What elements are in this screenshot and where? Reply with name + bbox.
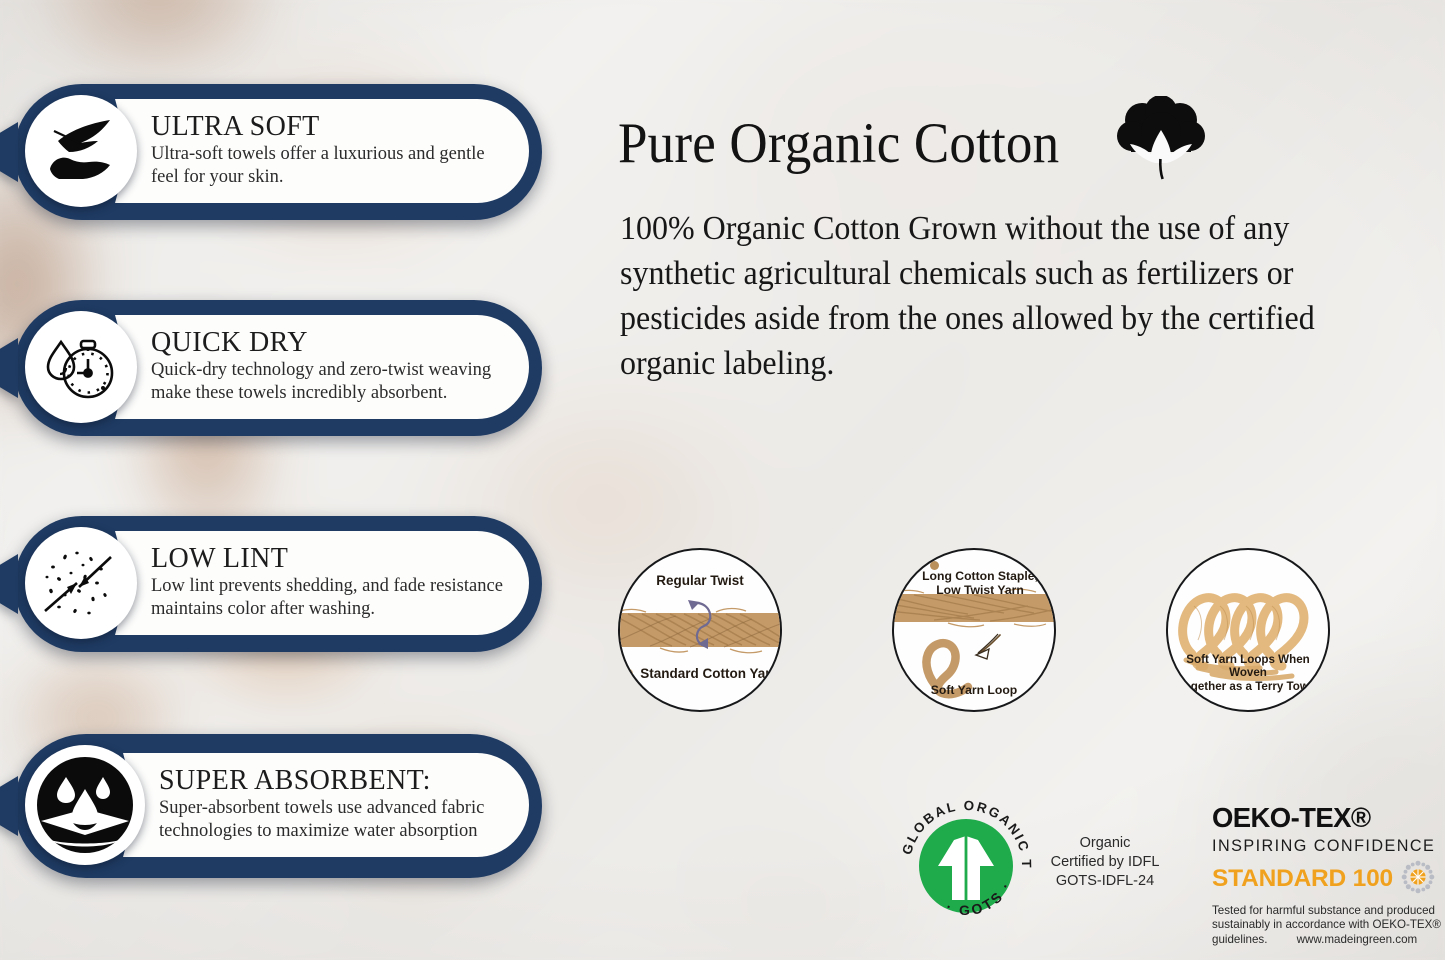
oeko-website: www.madeingreen.com: [1297, 933, 1418, 946]
feature-badge-low-lint[interactable]: LOW LINT Low lint prevents shedding, and…: [14, 516, 542, 652]
badge-card: ULTRA SOFT Ultra-soft towels offer a lux…: [115, 99, 529, 203]
gots-detail-line-1: Organic: [1044, 834, 1166, 853]
yarn-legend-dot: [621, 668, 633, 680]
feature-description: Quick-dry technology and zero-twist weav…: [151, 359, 503, 404]
oeko-tex-sunburst-icon: [1401, 860, 1435, 899]
droplet-stopwatch-icon: [25, 311, 137, 423]
gots-certification-detail: Organic Certified by IDFL GOTS-IDFL-24: [1044, 834, 1166, 891]
yarn-diagram-terry-loops: Soft Yarn Loops When Woven Together as a…: [1166, 548, 1330, 712]
feature-badge-list: ULTRA SOFT Ultra-soft towels offer a lux…: [0, 0, 580, 960]
badge-tail: [0, 122, 18, 182]
lede-paragraph: 100% Organic Cotton Grown without the us…: [620, 206, 1394, 386]
regular-twist-yarn-icon: [620, 550, 780, 710]
yarn-diagram-group: Regular Twist: [604, 548, 1445, 718]
yarn-diagram-low-twist: Long Cotton Staple, Low Twist Yarn Soft …: [892, 548, 1056, 712]
oeko-brand: OEKO-TEX®: [1212, 804, 1444, 832]
right-content-column: Pure Organic Cotton 100% Organic Cotton …: [604, 0, 1445, 960]
feature-badge-quick-dry[interactable]: QUICK DRY Quick-dry technology and zero-…: [14, 300, 542, 436]
badge-shell: SUPER ABSORBENT: Super-absorbent towels …: [14, 734, 542, 878]
yarn-bottom-label: Standard Cotton Yarn: [640, 666, 779, 681]
yarn-bottom-label-line1: Soft Yarn Loops When Woven: [1168, 653, 1328, 680]
hand-feather-icon: [25, 95, 137, 207]
feature-description: Low lint prevents shedding, and fade res…: [151, 575, 503, 620]
gots-seal-icon: GLOBAL ORGANIC TEXTILE STANDARD · GOTS ·: [896, 796, 1036, 936]
yarn-top-label-line1: Long Cotton Staple,: [906, 569, 1054, 583]
feature-title: SUPER ABSORBENT:: [159, 766, 503, 796]
yarn-legend-dot: [930, 561, 939, 570]
oeko-tex-block: OEKO-TEX® INSPIRING CONFIDENCE STANDARD …: [1212, 804, 1444, 948]
badge-tail: [0, 338, 18, 398]
gots-detail-line-2: Certified by IDFL: [1044, 853, 1166, 872]
water-absorption-layers-icon: [25, 745, 145, 865]
yarn-diagram-regular-twist: Regular Twist: [618, 548, 782, 712]
yarn-bottom-label: Soft Yarn Loop: [894, 683, 1054, 697]
badge-shell: LOW LINT Low lint prevents shedding, and…: [14, 516, 542, 652]
feature-title: ULTRA SOFT: [151, 112, 503, 142]
gots-detail-line-3: GOTS-IDFL-24: [1044, 872, 1166, 891]
cotton-boll-icon: [1115, 96, 1207, 187]
lint-particles-arrows-icon: [25, 527, 137, 639]
badge-shell: QUICK DRY Quick-dry technology and zero-…: [14, 300, 542, 436]
yarn-bottom-label-line2: Together as a Terry Towel: [1168, 680, 1328, 693]
feature-description: Ultra-soft towels offer a luxurious and …: [151, 143, 503, 188]
feature-badge-ultra-soft[interactable]: ULTRA SOFT Ultra-soft towels offer a lux…: [14, 84, 542, 220]
yarn-top-label-line2: Low Twist Yarn: [906, 583, 1054, 597]
headline-row: Pure Organic Cotton: [618, 100, 1207, 187]
feature-title: QUICK DRY: [151, 328, 503, 358]
badge-card: QUICK DRY Quick-dry technology and zero-…: [115, 315, 529, 419]
page-title: Pure Organic Cotton: [618, 115, 1059, 172]
badge-tail: [0, 776, 18, 836]
oeko-tagline: INSPIRING CONFIDENCE: [1212, 838, 1444, 854]
feature-badge-super-absorbent[interactable]: SUPER ABSORBENT: Super-absorbent towels …: [14, 734, 542, 878]
feature-description: Super-absorbent towels use advanced fabr…: [159, 797, 503, 842]
feature-title: LOW LINT: [151, 544, 503, 574]
oeko-disclaimer: Tested for harmful substance and produce…: [1212, 904, 1444, 948]
oeko-standard: STANDARD 100: [1212, 867, 1393, 892]
badge-tail: [0, 554, 18, 614]
badge-shell: ULTRA SOFT Ultra-soft towels offer a lux…: [14, 84, 542, 220]
certification-row: GLOBAL ORGANIC TEXTILE STANDARD · GOTS ·…: [604, 786, 1445, 960]
badge-card: LOW LINT Low lint prevents shedding, and…: [115, 531, 529, 635]
badge-card: SUPER ABSORBENT: Super-absorbent towels …: [123, 753, 529, 857]
